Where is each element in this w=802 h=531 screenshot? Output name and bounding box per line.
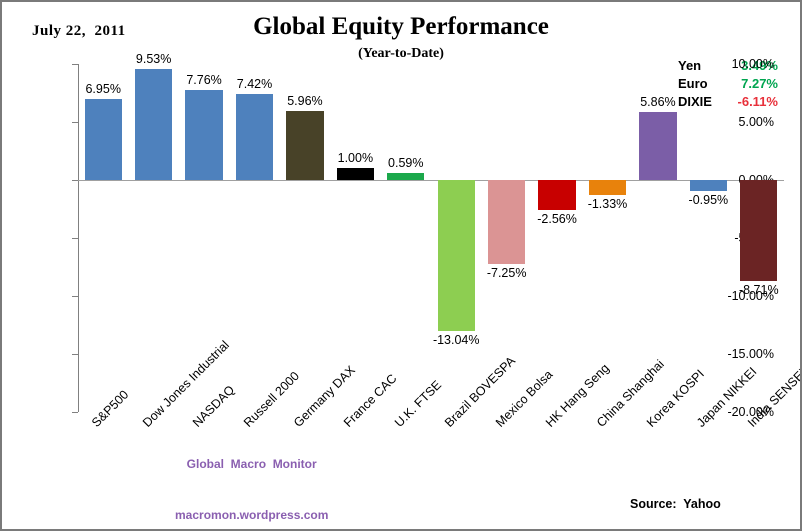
bar-group[interactable]: -0.95% (683, 64, 733, 412)
bar-group[interactable]: 9.53% (128, 64, 178, 412)
chart-page: July 22, 2011 Global Equity Performance … (0, 0, 802, 531)
bar[interactable] (286, 111, 323, 180)
bar-value-label: 0.59% (374, 156, 439, 170)
bar-group[interactable]: -2.56% (532, 64, 582, 412)
bar-value-label: -13.04% (424, 333, 489, 347)
bar[interactable] (438, 180, 475, 331)
bar-group[interactable]: 5.96% (280, 64, 330, 412)
bar-group[interactable]: 7.42% (229, 64, 279, 412)
bar[interactable] (135, 69, 172, 180)
bar-value-label: -0.95% (676, 193, 741, 207)
bar-value-label: 6.95% (71, 82, 136, 96)
bar-value-label: 5.86% (626, 95, 691, 109)
bar[interactable] (690, 180, 727, 191)
bar[interactable] (538, 180, 575, 210)
bar[interactable] (740, 180, 777, 281)
bar-group[interactable]: -8.71% (734, 64, 784, 412)
bar-value-label: -8.71% (727, 283, 792, 297)
source-note: Source: Yahoo (630, 497, 721, 511)
bar-group[interactable]: -13.04% (431, 64, 481, 412)
page-title: Global Equity Performance (2, 13, 800, 41)
bar[interactable] (589, 180, 626, 195)
watermark-line-1: Global Macro Monitor (175, 456, 328, 473)
bar[interactable] (85, 99, 122, 180)
watermark: Global Macro Monitor macromon.wordpress.… (175, 422, 328, 531)
bar[interactable] (236, 94, 273, 180)
bar-value-label: 9.53% (121, 52, 186, 66)
bar-value-label: -7.25% (474, 266, 539, 280)
watermark-line-2: macromon.wordpress.com (175, 507, 328, 524)
bar-group[interactable]: 0.59% (381, 64, 431, 412)
bar-value-label: 7.42% (222, 77, 287, 91)
bar[interactable] (488, 180, 525, 264)
bar-value-label: 5.96% (273, 94, 338, 108)
bar[interactable] (185, 90, 222, 180)
bar[interactable] (337, 168, 374, 180)
y-axis-tick-mark (72, 412, 78, 413)
bar-value-label: -2.56% (525, 212, 590, 226)
bar-group[interactable]: 6.95% (78, 64, 128, 412)
bar[interactable] (387, 173, 424, 180)
bar-group[interactable]: 1.00% (330, 64, 380, 412)
bar[interactable] (639, 112, 676, 180)
bar-group[interactable]: -1.33% (582, 64, 632, 412)
plot-area: 10.00%5.00%0.00%-5.00%-10.00%-15.00%-20.… (78, 64, 784, 412)
bar-value-label: -1.33% (575, 197, 640, 211)
